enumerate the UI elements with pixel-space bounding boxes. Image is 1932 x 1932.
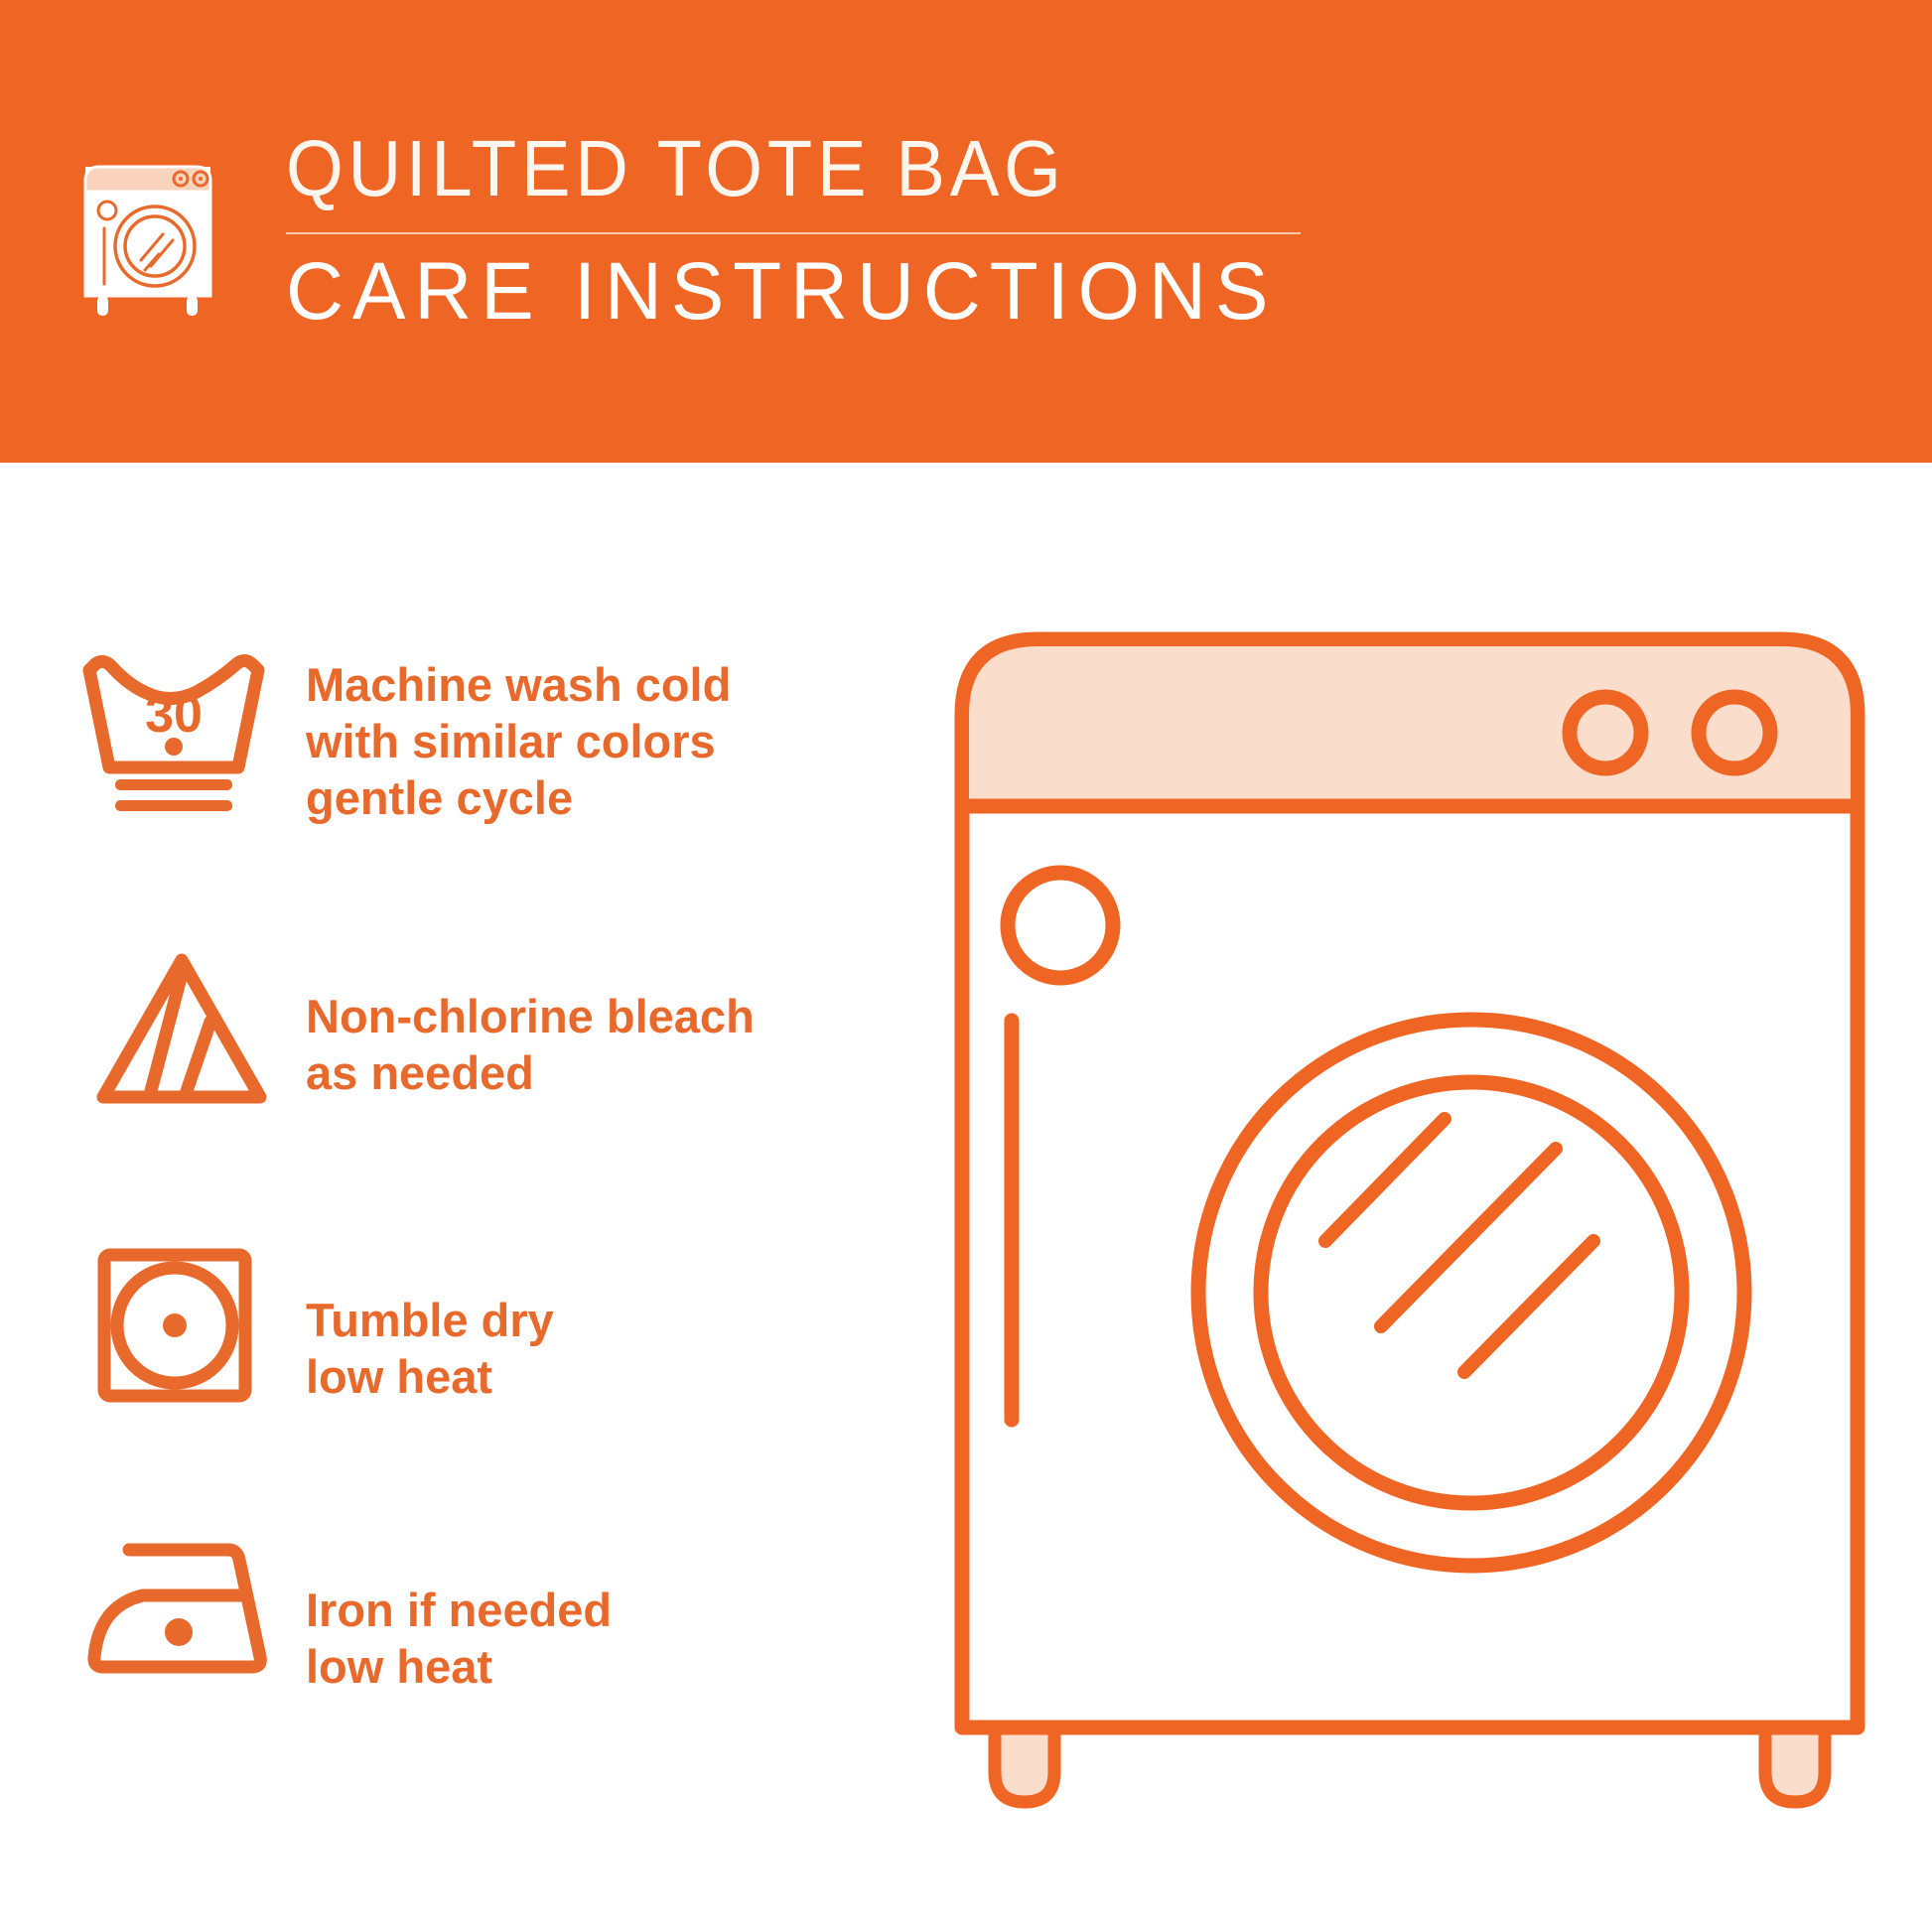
iron-low-heat-icon [81, 1534, 280, 1683]
care-text-wash: Machine wash cold with similar colors ge… [306, 650, 731, 826]
care-text-bleach: Non-chlorine bleach as needed [306, 948, 755, 1101]
care-text-line: Iron if needed [306, 1582, 612, 1638]
non-chlorine-bleach-triangle-icon [93, 948, 270, 1109]
knob-left[interactable] [1570, 697, 1641, 768]
front-load-washing-machine-illustration [948, 625, 1871, 1827]
care-row-tumble-dry: Tumble dry low heat [77, 1246, 911, 1534]
title-divider [286, 232, 1301, 234]
care-text-line: Non-chlorine bleach [306, 988, 755, 1044]
care-text-line: as needed [306, 1044, 755, 1101]
header-banner: QUILTED TOTE BAG CARE INSTRUCTIONS [0, 0, 1932, 463]
care-text-line: with similar colors [306, 713, 731, 769]
page-subtitle: CARE INSTRUCTIONS [286, 248, 1288, 336]
page-title: QUILTED TOTE BAG [286, 127, 1237, 210]
header-content: QUILTED TOTE BAG CARE INSTRUCTIONS [77, 127, 1309, 336]
care-text-line: gentle cycle [306, 769, 731, 826]
care-text-line: low heat [306, 1638, 612, 1695]
care-instruction-list: 30 Machine wash cold with similar colors… [77, 650, 911, 1792]
washing-machine-icon [77, 135, 226, 324]
wash-tub-30-gentle-icon: 30 [77, 650, 272, 817]
wash-temperature-label: 30 [145, 686, 203, 744]
tumble-dry-icon-wrapper [77, 1246, 306, 1405]
care-row-iron: Iron if needed low heat [77, 1534, 911, 1792]
knob-right[interactable] [1699, 697, 1770, 768]
iron-icon-wrapper [77, 1534, 306, 1683]
care-row-bleach: Non-chlorine bleach as needed [77, 948, 911, 1246]
care-row-wash: 30 Machine wash cold with similar colors… [77, 650, 911, 948]
care-text-line: Machine wash cold [306, 656, 731, 713]
wash-icon-wrapper: 30 [77, 650, 306, 817]
care-text-iron: Iron if needed low heat [306, 1534, 612, 1695]
care-text-tumble-dry: Tumble dry low heat [306, 1246, 554, 1405]
tumble-dry-low-heat-icon [95, 1246, 254, 1405]
header-title-block: QUILTED TOTE BAG CARE INSTRUCTIONS [286, 127, 1309, 336]
bleach-icon-wrapper [77, 948, 306, 1109]
care-text-line: low heat [306, 1348, 554, 1405]
care-text-line: Tumble dry [306, 1292, 554, 1348]
